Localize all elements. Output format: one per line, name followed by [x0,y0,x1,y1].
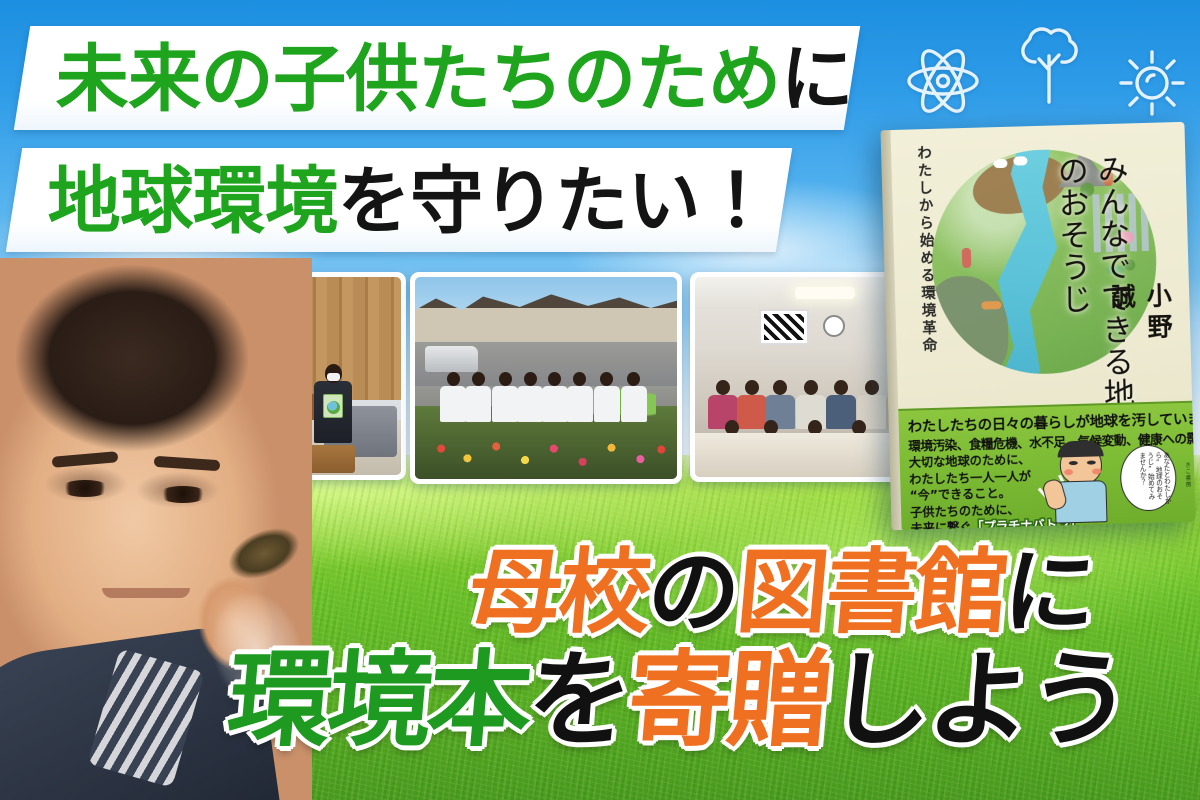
speech-bubble-text: あなたとわたしから“地球のおそうじ”始めてみませんか？ [1128,451,1171,506]
photo-street-inner [415,277,677,479]
person-head [548,372,561,386]
headline-line-1-green: 未来の子供たちのため [56,37,781,122]
person-head [325,364,342,383]
bh1-seg-toshokan: 図書館 [732,539,1008,646]
publisher-name: きこ書房 [1183,462,1192,510]
person-head [865,380,879,395]
person-body [465,386,491,422]
person-body [440,386,466,422]
bottom-headline-line-2: 環境本を寄贈しよう [223,640,1134,760]
globe-tree [960,170,970,180]
speech-bubble: あなたとわたしから“地球のおそうじ”始めてみませんか？ [1119,444,1177,512]
mascot-illustration [1043,440,1117,524]
book-author: 小野 誠 [1103,282,1178,394]
volunteer [567,372,593,422]
person-head [834,380,848,395]
bh2-seg-shiyou: しよう [823,639,1134,761]
headline-banner-1: 未来の子供たちのために [14,26,860,130]
ceiling-light [795,287,854,299]
portrait-eye-right [158,486,208,503]
person-body [594,386,620,422]
bh1-seg-bokou: 母校 [465,539,652,646]
person-head [627,372,640,386]
volunteer [542,372,568,422]
person-body [517,386,543,422]
street-volunteers [436,334,661,423]
person-head [447,372,460,386]
headline-line-1: 未来の子供たちのために [56,32,822,128]
person-head [499,372,512,386]
person-head [773,380,787,395]
globe-sheep [993,159,1007,168]
promo-banner: 未来の子供たちのために 地球環境を守りたい！ [0,0,1200,800]
office-person [314,364,352,443]
globe-sheep [1013,156,1027,165]
street-scene [415,277,677,479]
headline-line-1-black: に [781,37,854,122]
person-body [567,386,593,422]
person-head [524,372,537,386]
book-cover[interactable]: わたしから始める環境革命 みんなでできる地球のおそうじ [880,122,1195,530]
bh2-seg-kizou: 寄贈 [623,639,834,761]
volunteer [440,372,466,422]
person-body [492,386,518,422]
bh2-seg-wo: を [523,639,634,761]
book-front-face: わたしから始める環境革命 みんなでできる地球のおそうじ [890,122,1195,530]
volunteer [517,372,543,422]
volunteer [621,372,647,422]
volunteer [594,372,620,422]
tree-icon [1015,22,1083,108]
headline-line-2: 地球環境を守りたい！ [48,154,754,250]
person-head [716,380,730,395]
wall-clock-icon [823,315,845,337]
bh2-seg-kankyohon: 環境本 [223,639,534,761]
portrait-eye-left [60,480,110,497]
headline-line-2-green: 地球環境 [48,159,338,244]
globe-forest [929,275,1009,377]
headline-banner-2: 地球環境を守りたい！ [6,148,792,252]
wall-artwork [759,309,809,345]
volunteer [492,372,518,422]
eco-icon-group [905,18,1195,123]
bh1-seg-ni: に [999,539,1097,646]
held-book [323,394,343,418]
globe-person [962,248,972,268]
person-head [472,372,485,386]
globe-person [981,301,1001,310]
bh1-seg-no: の [643,539,741,646]
headline-line-2-black: を守りたい！ [338,159,773,244]
mascot-hair [1057,440,1103,457]
sun-icon [1117,48,1187,118]
person-body [314,381,352,443]
volunteer [465,372,491,422]
person-head [573,372,586,386]
photo-street [410,272,682,484]
person-head [745,380,759,395]
bottom-headline-line-1: 母校の図書館に [465,540,1097,646]
atom-icon [905,46,981,116]
person-body [621,386,647,422]
street-flowers [415,431,677,475]
book-obi-band: わたしたちの日々の暮らしが地球を汚しています。 環境汚染、食糧危機、水不足、気候… [898,401,1195,530]
person-body [542,386,568,422]
person-head [600,372,613,386]
person-head [804,380,818,395]
